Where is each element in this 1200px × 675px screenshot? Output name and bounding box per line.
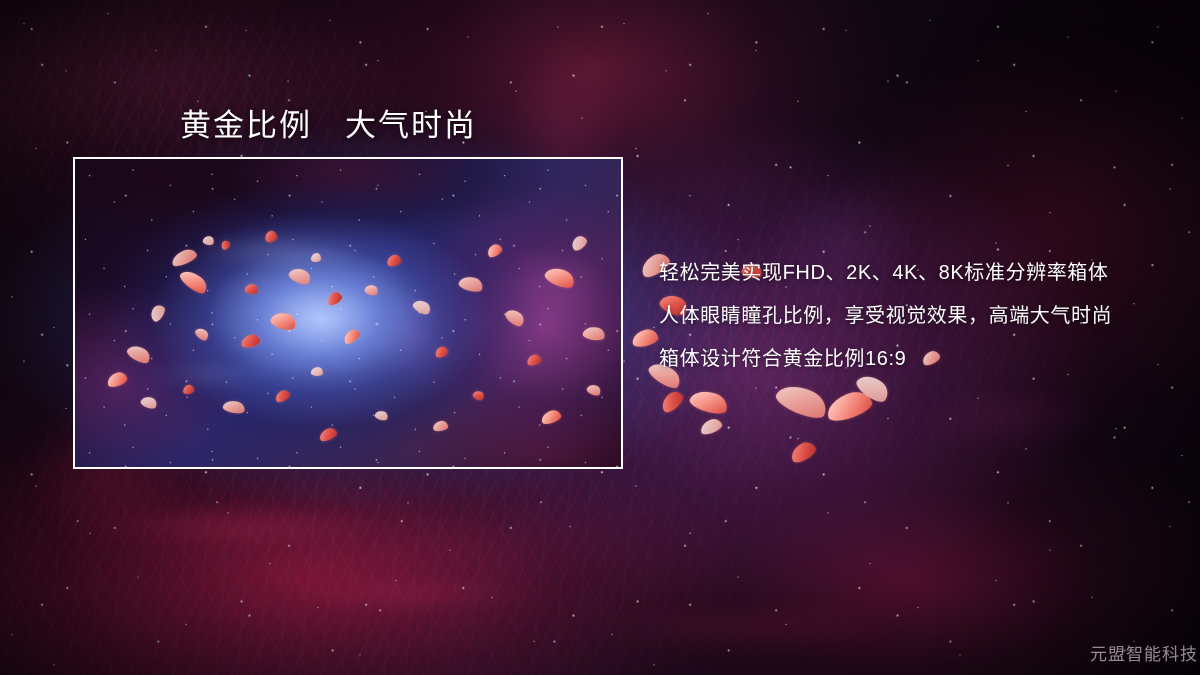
- panel-starfield-bright: [75, 159, 621, 467]
- flower-petal: [773, 379, 831, 424]
- flower-petal: [698, 417, 723, 437]
- flower-petal: [631, 327, 660, 348]
- page-title: 黄金比例 大气时尚: [180, 100, 477, 145]
- flower-petal: [788, 439, 818, 465]
- framed-image-panel: [73, 157, 623, 469]
- body-copy-block: 轻松完美实现FHD、2K、4K、8K标准分辨率箱体 人体眼睛瞳孔比例，享受视觉效…: [659, 252, 1159, 381]
- body-line-1: 轻松完美实现FHD、2K、4K、8K标准分辨率箱体: [659, 252, 1159, 295]
- flower-petal: [688, 387, 730, 418]
- body-line-2: 人体眼睛瞳孔比例，享受视觉效果，高端大气时尚: [659, 295, 1159, 338]
- flower-petal: [658, 388, 686, 415]
- watermark-text: 元盟智能科技: [1090, 640, 1198, 665]
- slide-canvas: 黄金比例 大气时尚 轻松完美实现FHD、2K、4K、8K标准分辨率箱体 人体眼睛…: [0, 0, 1200, 675]
- body-line-3: 箱体设计符合黄金比例16:9: [659, 338, 1159, 381]
- flower-petal: [823, 387, 874, 424]
